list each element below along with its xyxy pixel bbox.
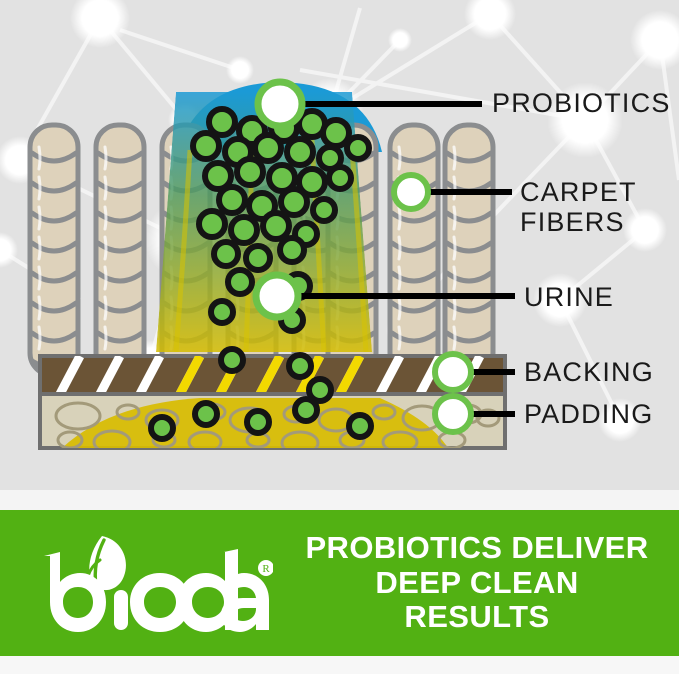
callout-marker-urine (256, 275, 298, 317)
callout-label-backing: BACKING (524, 358, 654, 388)
bioda-letters (44, 549, 269, 632)
banner-tagline: PROBIOTICS DELIVER DEEP CLEAN RESULTS (285, 531, 679, 635)
bioda-wordmark: R (38, 532, 273, 642)
carpet-cross-section-illustration: PROBIOTICS CARPET FIBERS URINE BACKING P… (0, 0, 679, 490)
section-divider (0, 490, 679, 510)
svg-text:R: R (262, 563, 270, 575)
registered-mark: R (258, 560, 273, 576)
callout-marker-backing (435, 354, 471, 390)
callout-label-carpet-fibers: CARPET FIBERS (520, 178, 637, 237)
callout-label-probiotics: PROBIOTICS (492, 89, 671, 119)
brand-banner: R PROBIOTICS DELIVER DEEP CLEAN RESULTS (0, 510, 679, 656)
infographic-page: PROBIOTICS CARPET FIBERS URINE BACKING P… (0, 0, 679, 674)
callout-marker-carpet-fibers (394, 175, 428, 209)
callout-marker-padding (435, 396, 471, 432)
bioda-logo: R (0, 510, 285, 656)
callout-label-urine: URINE (524, 283, 614, 313)
callout-label-padding: PADDING (524, 400, 653, 430)
banner-bottom-edge (0, 656, 679, 674)
callout-marker-probiotics (258, 82, 302, 126)
